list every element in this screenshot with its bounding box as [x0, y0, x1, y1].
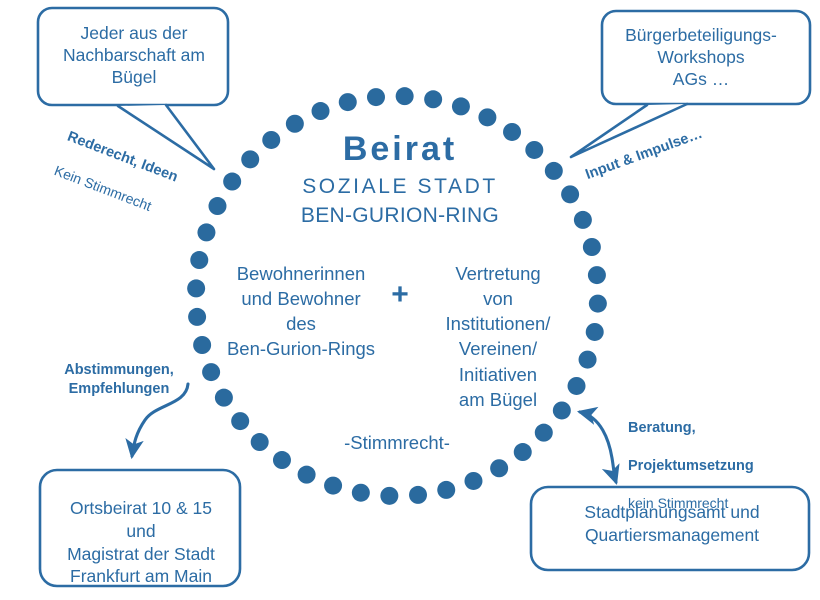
- ring-dot: [298, 466, 316, 484]
- diagram-canvas: Jeder aus der Nachbarschaft am Bügel Bür…: [0, 0, 820, 600]
- ring-dot: [231, 412, 249, 430]
- ring-dot: [583, 238, 601, 256]
- annotation-abstimmungen: Abstimmungen, Empfehlungen: [44, 361, 194, 399]
- ring-dot: [324, 477, 342, 495]
- page-title: Beirat: [250, 128, 550, 171]
- ring-dot: [312, 102, 330, 120]
- ring-dot: [188, 308, 206, 326]
- ring-dot: [589, 295, 607, 313]
- ring-dot: [197, 223, 215, 241]
- ring-dot: [478, 108, 496, 126]
- ring-dot: [452, 97, 470, 115]
- ring-dot: [574, 211, 592, 229]
- annotation-beratung-line-2: Projektumsetzung: [628, 457, 788, 476]
- ring-dot: [588, 266, 606, 284]
- arrow-beratung: [580, 412, 616, 482]
- ring-dot: [396, 87, 414, 105]
- ring-dot: [251, 433, 269, 451]
- ring-dot: [273, 451, 291, 469]
- ring-dot: [490, 459, 508, 477]
- voting-rights-note: -Stimmrecht-: [297, 431, 497, 454]
- ring-dot: [367, 88, 385, 106]
- annotation-beratung-line-3: kein Stimmrecht: [628, 494, 788, 512]
- ring-dot: [339, 93, 357, 111]
- ring-dot: [208, 197, 226, 215]
- subtitle-line-2: BEN-GURION-RING: [250, 203, 550, 229]
- members-column-institutions: Vertretung von Institutionen/ Vereinen/ …: [418, 261, 578, 412]
- annotation-beratung: Beratung, Projektumsetzung kein Stimmrec…: [628, 400, 788, 531]
- ring-dot: [215, 389, 233, 407]
- ring-dot: [380, 487, 398, 505]
- ring-dot: [586, 323, 604, 341]
- ring-dot: [409, 486, 427, 504]
- members-column-residents: Bewohnerinnen und Bewohner des Ben-Gurio…: [206, 261, 396, 362]
- ring-dot: [561, 185, 579, 203]
- ring-dot: [535, 424, 553, 442]
- subtitle-line-1: SOZIALE STADT: [250, 174, 550, 200]
- ring-dot: [424, 90, 442, 108]
- ring-dot: [437, 481, 455, 499]
- ring-dot: [579, 351, 597, 369]
- ring-dot: [352, 484, 370, 502]
- bubble-top-left-text: Jeder aus der Nachbarschaft am Bügel: [44, 22, 224, 88]
- ring-dot: [464, 472, 482, 490]
- box-bottom-left-text: Ortsbeirat 10 & 15 und Magistrat der Sta…: [48, 497, 234, 588]
- ring-dot: [514, 443, 532, 461]
- annotation-beratung-line-1: Beratung,: [628, 419, 788, 438]
- bubble-top-right-text: Bürgerbeteiligungs- Workshops AGs …: [608, 24, 794, 90]
- ring-dot: [187, 279, 205, 297]
- plus-icon: +: [383, 276, 417, 314]
- ring-dot: [202, 363, 220, 381]
- ring-dot: [223, 173, 241, 191]
